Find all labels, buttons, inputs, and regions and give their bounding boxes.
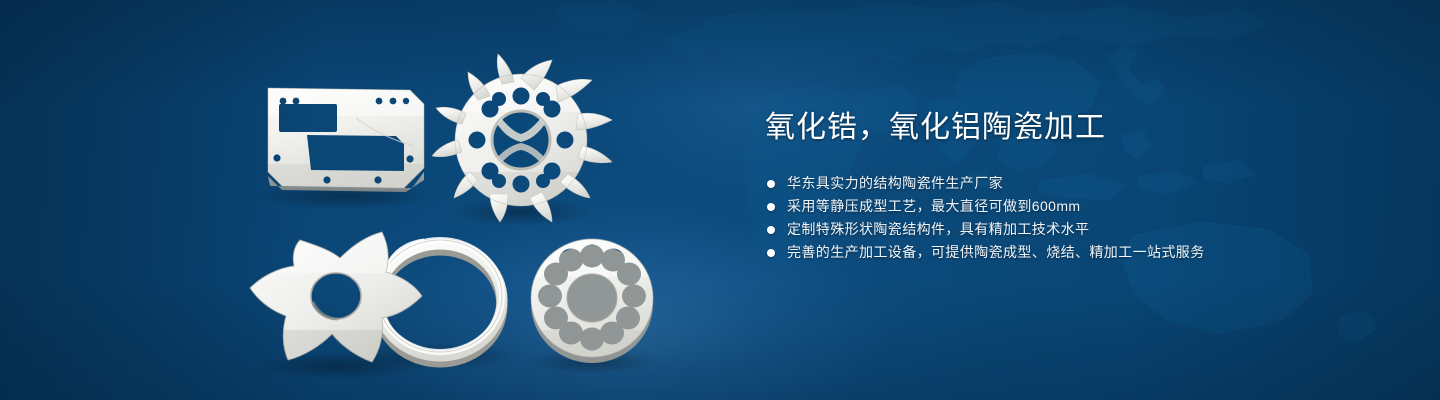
bullet-dot-icon (767, 249, 775, 257)
list-item-label: 完善的生产加工设备，可提供陶瓷成型、烧结、精加工一站式服务 (787, 241, 1205, 264)
bullet-dot-icon (767, 180, 775, 188)
bullet-dot-icon (767, 203, 775, 211)
list-item: 定制特殊形状陶瓷结构件，具有精加工技术水平 (767, 218, 1385, 241)
promo-banner: 氧化锆，氧化铝陶瓷加工 华东具实力的结构陶瓷件生产厂家 采用等静压成型工艺，最大… (0, 0, 1440, 400)
bullet-dot-icon (767, 226, 775, 234)
list-item: 华东具实力的结构陶瓷件生产厂家 (767, 172, 1385, 195)
list-item-label: 采用等静压成型工艺，最大直径可做到600mm (787, 195, 1080, 218)
banner-headline: 氧化锆，氧化铝陶瓷加工 (765, 108, 1385, 148)
banner-copy: 氧化锆，氧化铝陶瓷加工 华东具实力的结构陶瓷件生产厂家 采用等静压成型工艺，最大… (765, 108, 1385, 264)
list-item-label: 华东具实力的结构陶瓷件生产厂家 (787, 172, 1003, 195)
list-item-label: 定制特殊形状陶瓷结构件，具有精加工技术水平 (787, 218, 1089, 241)
feature-list: 华东具实力的结构陶瓷件生产厂家 采用等静压成型工艺，最大直径可做到600mm 定… (765, 172, 1385, 264)
list-item: 采用等静压成型工艺，最大直径可做到600mm (767, 195, 1385, 218)
list-item: 完善的生产加工设备，可提供陶瓷成型、烧结、精加工一站式服务 (767, 241, 1385, 264)
